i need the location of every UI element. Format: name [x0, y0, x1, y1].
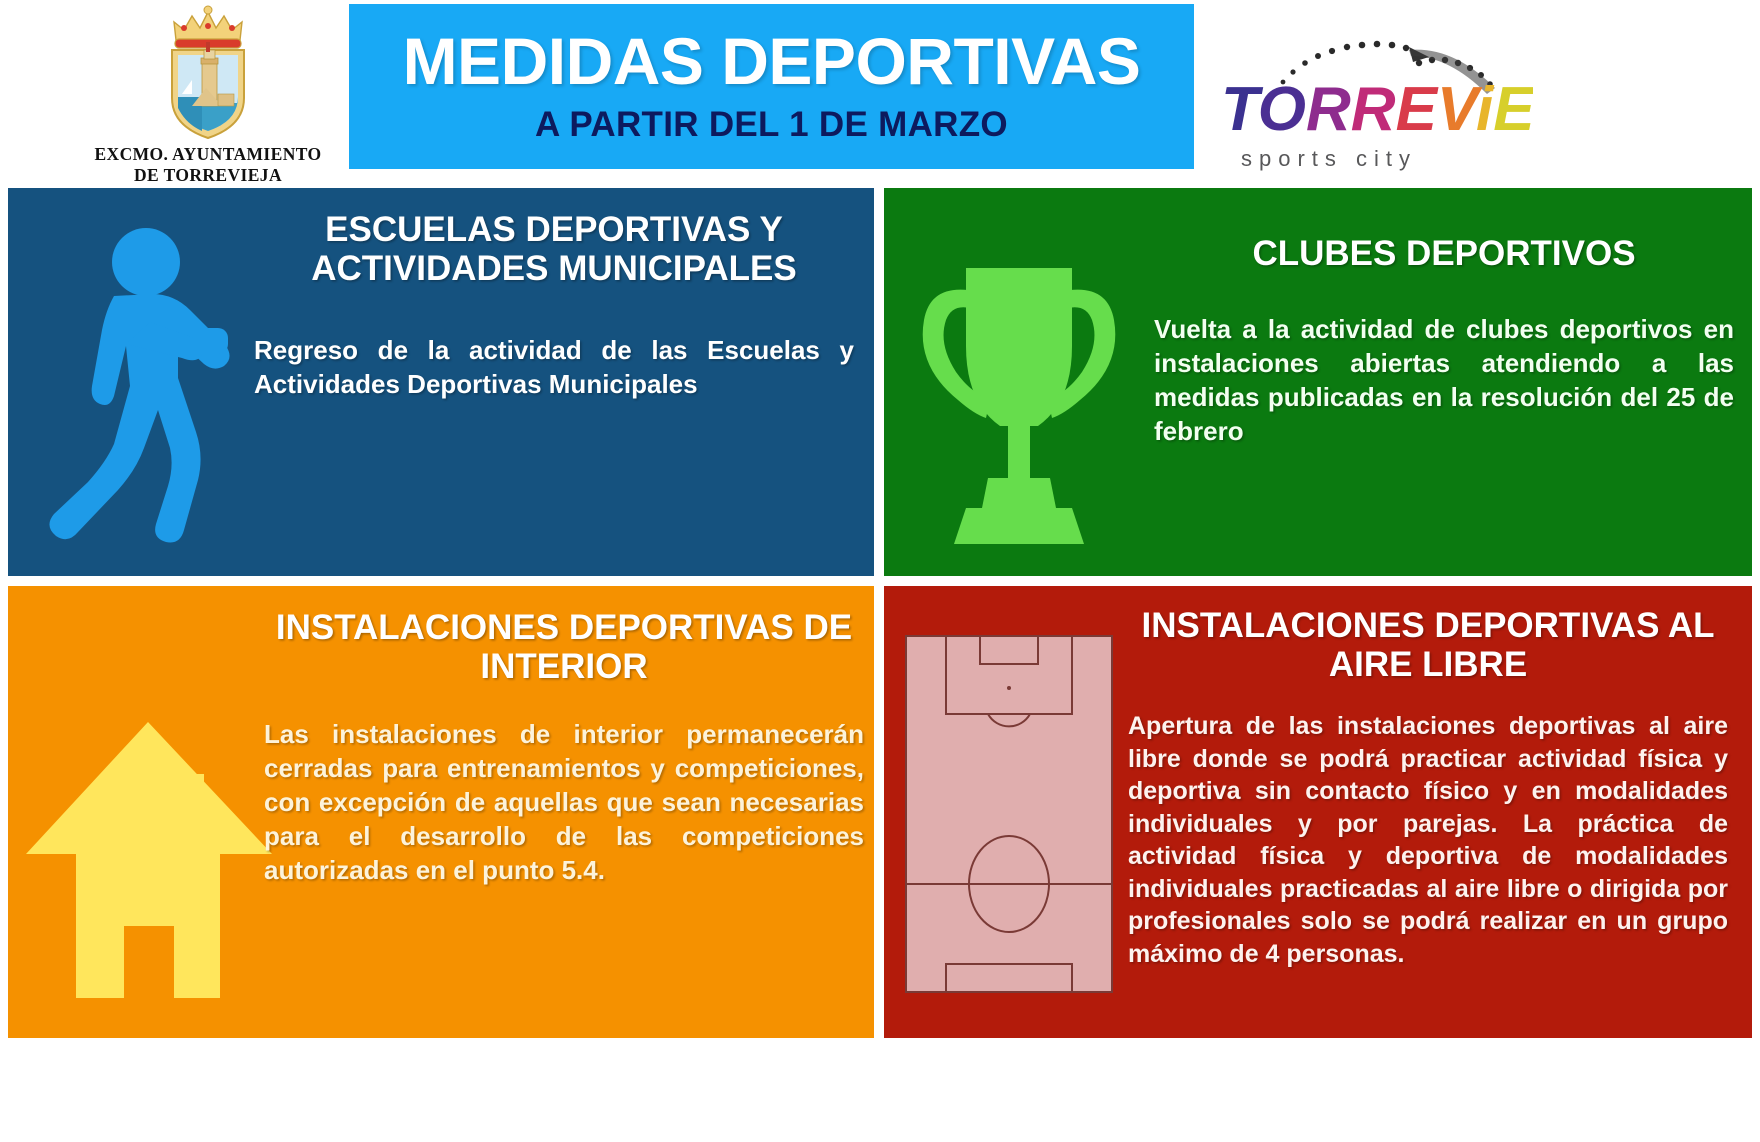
panel-clubes-text: CLUBES DEPORTIVOS Vuelta a la actividad …: [1154, 234, 1734, 448]
torrevieja-coat-of-arms-icon: [148, 2, 268, 142]
svg-text:TORREViEJA: TORREViEJA: [1221, 75, 1533, 144]
trophy-icon: [904, 250, 1134, 555]
panel-interior-title: INSTALACIONES DEPORTIVAS DE INTERIOR: [264, 608, 864, 686]
panel-aire-libre-text: INSTALACIONES DEPORTIVAS AL AIRE LIBRE A…: [1128, 606, 1728, 970]
municipality-crest-block: EXCMO. AYUNTAMIENTO DE TORREVIEJA: [58, 2, 358, 192]
torrevieja-sports-city-logo: TORREViEJA sports city: [1213, 10, 1533, 180]
panel-aire-libre-body: Apertura de las instalaciones deportivas…: [1128, 710, 1728, 970]
panel-clubes-deportivos: CLUBES DEPORTIVOS Vuelta a la actividad …: [884, 188, 1752, 576]
panel-instalaciones-aire-libre: INSTALACIONES DEPORTIVAS AL AIRE LIBRE A…: [884, 586, 1752, 1038]
panel-escuelas-body: Regreso de la actividad de las Escuelas …: [254, 334, 854, 402]
panel-clubes-title: CLUBES DEPORTIVOS: [1154, 234, 1734, 273]
svg-text:sports city: sports city: [1241, 146, 1417, 171]
title-banner: MEDIDAS DEPORTIVAS A PARTIR DEL 1 DE MAR…: [349, 4, 1194, 169]
panel-interior-text: INSTALACIONES DEPORTIVAS DE INTERIOR Las…: [264, 608, 864, 887]
page-title: MEDIDAS DEPORTIVAS: [403, 28, 1141, 95]
panel-escuelas-title: ESCUELAS DEPORTIVAS Y ACTIVIDADES MUNICI…: [254, 210, 854, 288]
crest-caption: EXCMO. AYUNTAMIENTO DE TORREVIEJA: [94, 144, 321, 185]
crest-caption-line2: DE TORREVIEJA: [94, 165, 321, 186]
panel-escuelas-deportivas: ESCUELAS DEPORTIVAS Y ACTIVIDADES MUNICI…: [8, 188, 874, 576]
panel-aire-libre-title: INSTALACIONES DEPORTIVAS AL AIRE LIBRE: [1128, 606, 1728, 684]
page-subtitle: A PARTIR DEL 1 DE MARZO: [535, 105, 1008, 145]
panel-instalaciones-interior: INSTALACIONES DEPORTIVAS DE INTERIOR Las…: [8, 586, 874, 1038]
panel-interior-body: Las instalaciones de interior permanecer…: [264, 718, 864, 887]
measures-panel-grid: ESCUELAS DEPORTIVAS Y ACTIVIDADES MUNICI…: [0, 186, 1760, 1142]
running-person-icon: [18, 218, 268, 553]
crest-caption-line1: EXCMO. AYUNTAMIENTO: [94, 144, 321, 165]
football-pitch-icon: [904, 634, 1114, 999]
panel-clubes-body: Vuelta a la actividad de clubes deportiv…: [1154, 313, 1734, 448]
panel-escuelas-text: ESCUELAS DEPORTIVAS Y ACTIVIDADES MUNICI…: [254, 210, 854, 402]
poster-header: EXCMO. AYUNTAMIENTO DE TORREVIEJA MEDIDA…: [0, 0, 1760, 196]
house-icon: [24, 712, 274, 1007]
